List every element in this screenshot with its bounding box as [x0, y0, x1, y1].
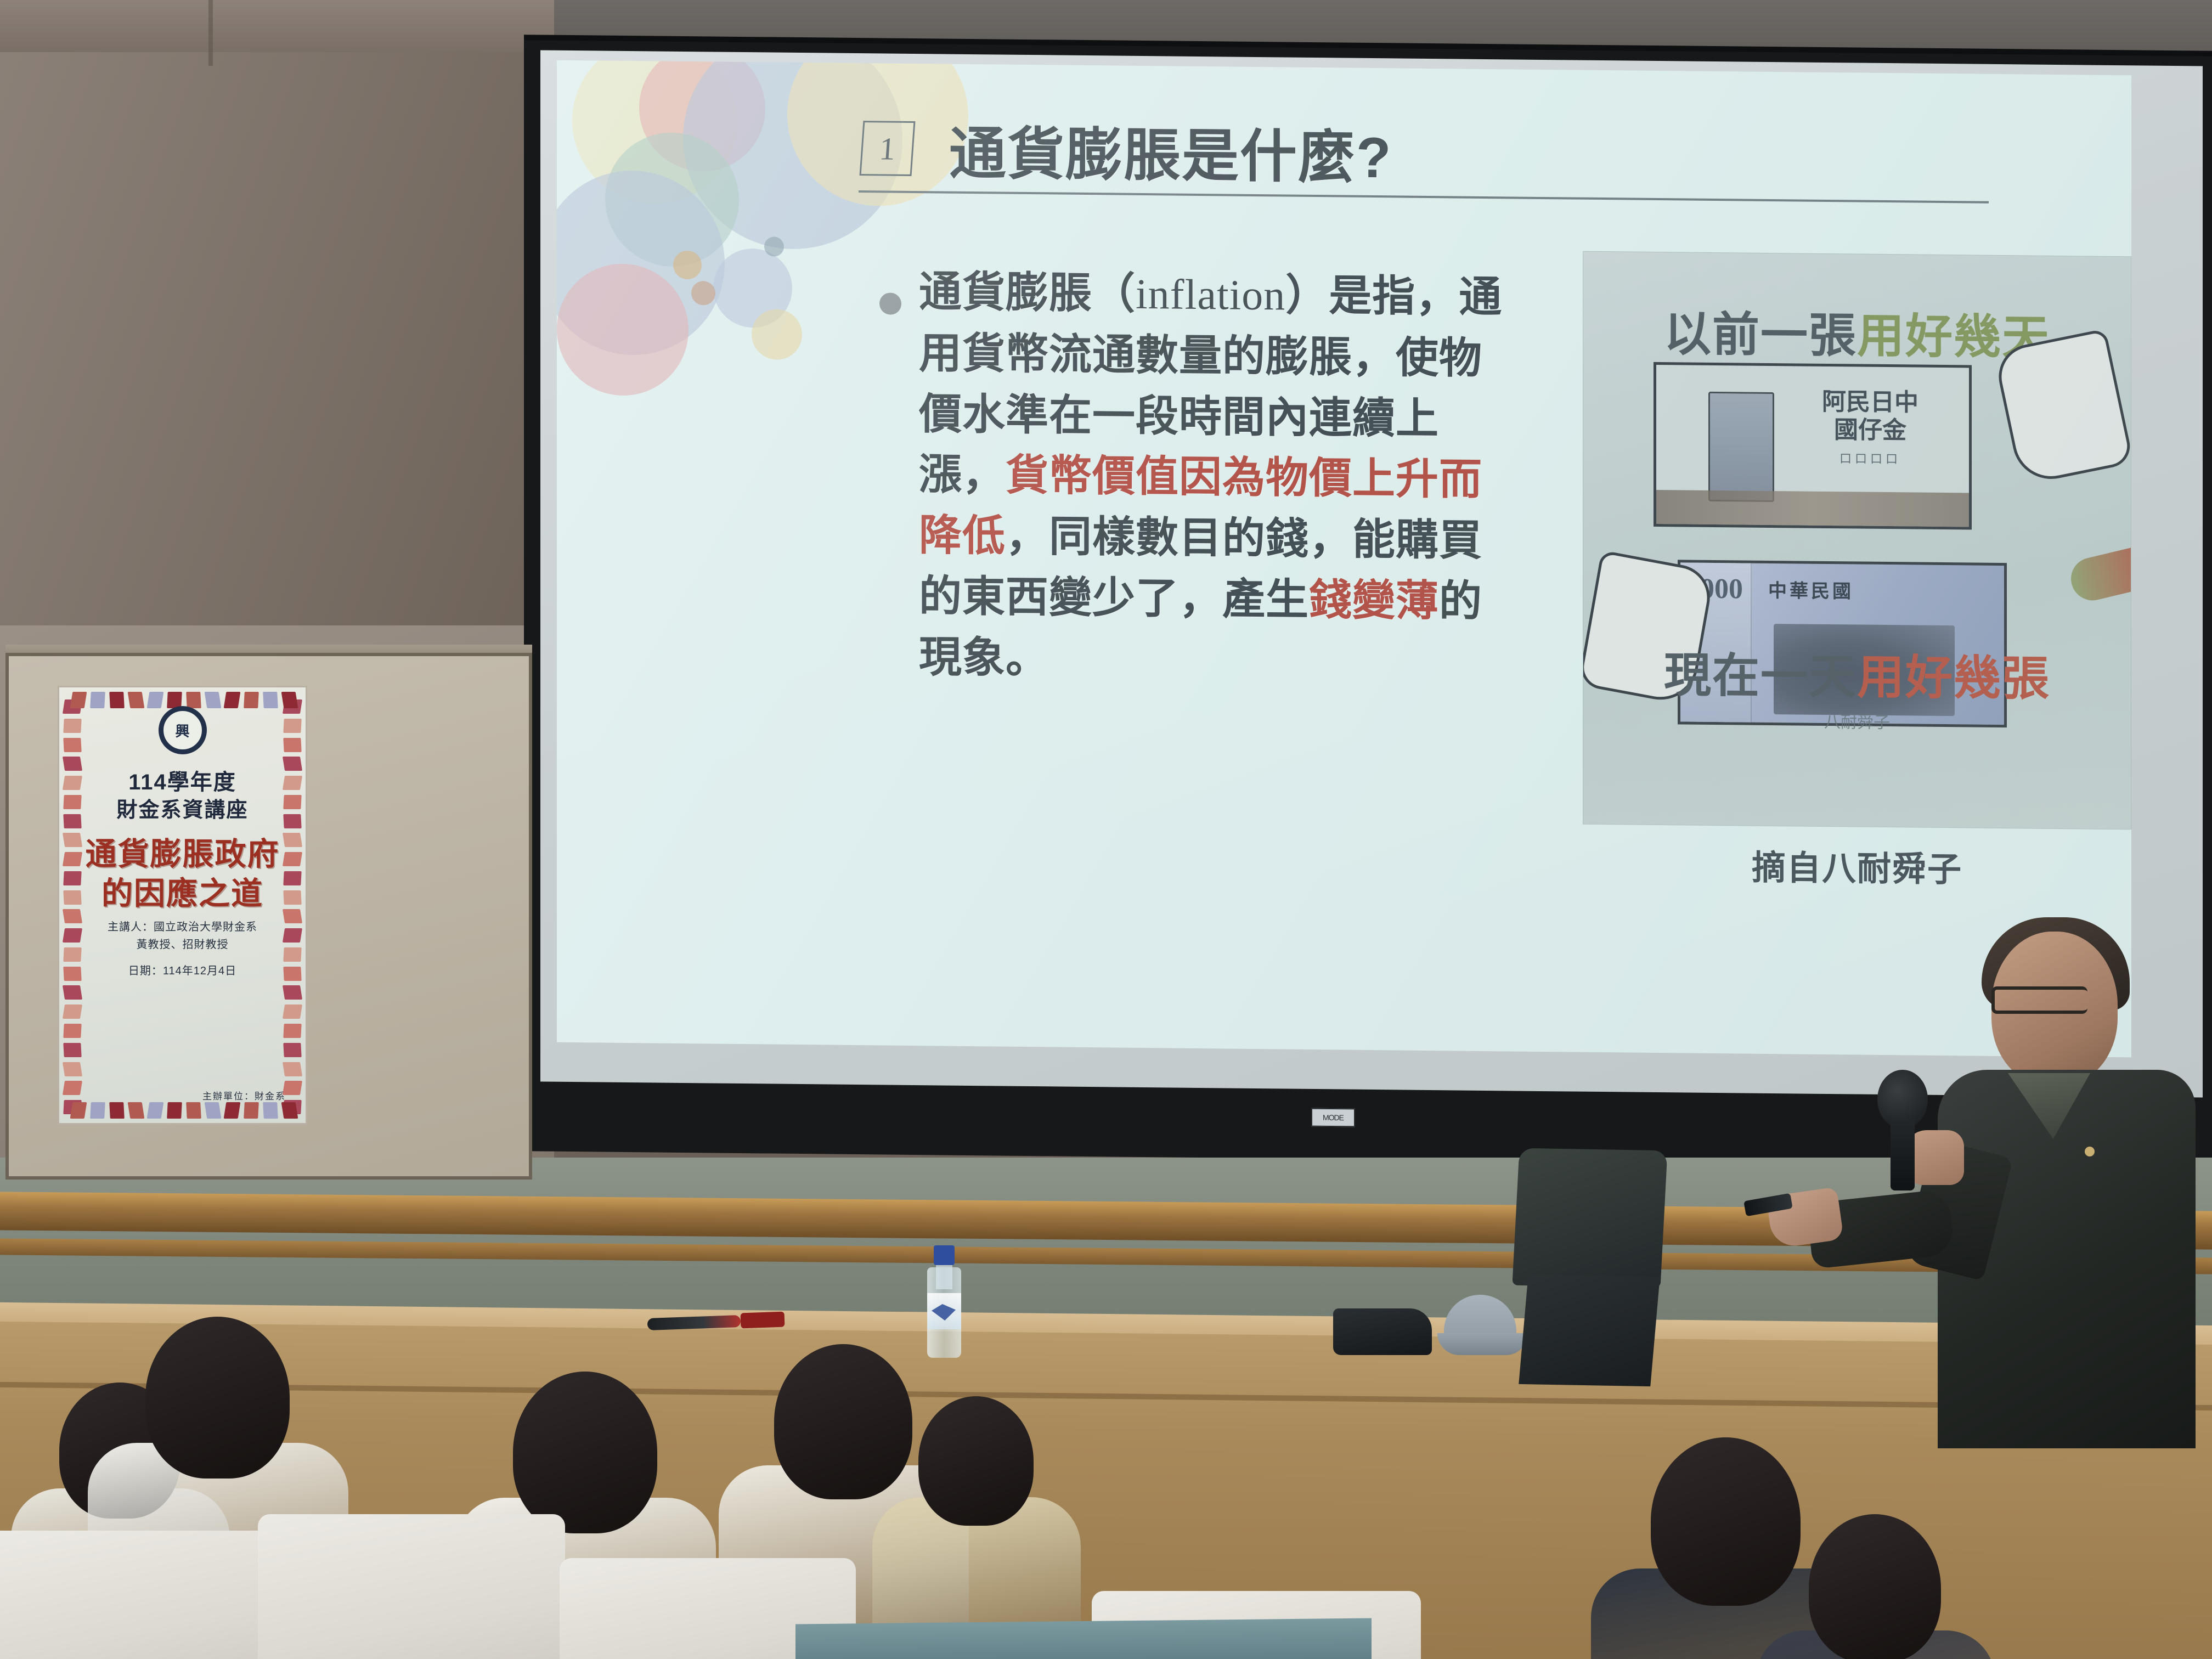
poster-border-cell — [281, 1102, 298, 1119]
poster-border-cell — [283, 1062, 302, 1076]
audience-head — [1809, 1514, 1942, 1659]
illus-top-plain: 以前一張 — [1664, 308, 1857, 362]
old-banknote-text: 阿民日中 國仔金 — [1793, 388, 1947, 445]
poster-border-cell — [283, 719, 301, 733]
small-bag — [1333, 1308, 1432, 1355]
poster-border-cell — [167, 1102, 182, 1119]
illustration-signature: 八耐舜子 — [1583, 706, 2131, 736]
poster-border-cell — [63, 1005, 82, 1019]
poster-border-cell — [70, 692, 87, 708]
poster-academic-year: 114學年度 — [59, 764, 306, 796]
poster-border-cell — [109, 692, 125, 708]
poster-series-name: 財金系資講座 — [59, 793, 306, 823]
presentation-slide: 1 通貨膨脹是什麼? 通貨膨脹（inflation）是指，通用貨幣流通數量的膨脹… — [557, 60, 2131, 1058]
poster-border-cell — [283, 985, 302, 1000]
old-note-header: 阿民日中 — [1793, 388, 1947, 417]
poster-border-cell — [186, 1102, 201, 1119]
poster-border-cell — [70, 1102, 87, 1119]
poster-border-cell — [263, 1102, 278, 1119]
poster-title-line2: 的因應之道 — [59, 868, 306, 913]
audience-member — [872, 1396, 1081, 1659]
poster-border-cell — [90, 1102, 105, 1119]
lapel-pin-icon — [2085, 1147, 2095, 1156]
screen-brand-label: MODE — [1311, 1108, 1355, 1127]
chair-backrest — [1512, 1148, 1667, 1288]
body-line3-highlight: 貨 — [1006, 451, 1049, 500]
poster-border-cell — [283, 1024, 301, 1038]
poster-title-line1: 通貨膨脹政府 — [59, 829, 306, 874]
illustration-bottom-caption: 現在一天用好幾張 — [1583, 636, 2131, 710]
bullet-dot-icon — [879, 292, 901, 314]
audience-head — [513, 1372, 657, 1533]
seat-back — [258, 1514, 565, 1659]
new-note-country: 中華民國 — [1768, 575, 1933, 604]
poster-border-cell — [283, 738, 301, 752]
old-note-serial: 口口口口 — [1793, 448, 1947, 467]
poster-border-cell — [244, 692, 259, 708]
illus-bot-plain: 現在一天 — [1664, 649, 1857, 703]
poster-border-cell — [90, 692, 105, 708]
body-line1-a: 通貨膨脹（ — [919, 267, 1136, 318]
bottle-cap — [934, 1245, 955, 1265]
left-wall-upper — [0, 0, 554, 647]
poster-border-cell — [109, 1102, 125, 1119]
audience-member — [1756, 1514, 1995, 1659]
banknote-bottom-band — [1656, 490, 1969, 527]
bubble-8 — [673, 251, 702, 279]
body-line4-plain: ，同 — [1006, 512, 1092, 561]
microphone-body — [1891, 1119, 1915, 1190]
poster-border-cell — [63, 985, 82, 1000]
poster-border-cell — [224, 692, 241, 708]
poster-border-bottom — [71, 1102, 297, 1119]
ceiling-strip — [0, 0, 554, 52]
bubble-9 — [691, 281, 715, 305]
body-line1-en: inflation — [1136, 270, 1285, 319]
seat-back — [0, 1531, 285, 1659]
chair-column — [1519, 1274, 1660, 1386]
poster-border-cell — [281, 692, 298, 708]
title-underline — [859, 190, 1989, 204]
bubble-11 — [752, 309, 802, 360]
poster-border-cell — [147, 692, 164, 708]
bottle-neck — [936, 1262, 952, 1289]
bubble-10 — [764, 236, 784, 256]
poster-border-cell — [128, 1102, 145, 1119]
event-poster: 興 114學年度 財金系資講座 通貨膨脹政府 的因應之道 主講人：國立政治大學財… — [58, 686, 307, 1125]
water-bottle — [927, 1245, 961, 1358]
old-banknote-graphic: 阿民日中 國仔金 口口口口 — [1654, 362, 1972, 530]
poster-speaker-line1: 主講人：國立政治大學財金系 — [59, 918, 306, 934]
poster-border-cell — [244, 1102, 259, 1119]
front-desk — [795, 1618, 1372, 1659]
poster-border-cell — [224, 1102, 241, 1119]
poster-border-cell — [63, 1043, 81, 1057]
poster-speaker-line2: 黃教授、招財教授 — [59, 935, 306, 951]
speaker-person — [1909, 889, 2212, 1437]
poster-border-cell — [63, 1024, 81, 1038]
poster-border-cell — [128, 692, 145, 708]
poster-border-cell — [63, 1062, 82, 1076]
microphone-icon — [1877, 1070, 1928, 1185]
body-line6-a: 了，產生 — [1136, 574, 1309, 624]
old-note-value: 國仔金 — [1793, 416, 1947, 445]
slide-body-text: 通貨膨脹（inflation）是指，通用貨幣流通數量的膨脹，使物價水準在一段時間… — [919, 261, 1514, 693]
slide-number-box: 1 — [860, 121, 916, 176]
body-line1-b: ）是指，通 — [1285, 270, 1502, 321]
poster-border-cell — [283, 1005, 302, 1019]
poster-border-cell — [63, 1081, 82, 1095]
marker-pen-second — [741, 1312, 785, 1329]
poster-organizer: 主辦單位：財金系 — [202, 1088, 286, 1102]
body-line6-highlight: 錢變薄 — [1309, 575, 1439, 625]
lecture-hall-scene: 1 通貨膨脹是什麼? 通貨膨脹（inflation）是指，通用貨幣流通數量的膨脹… — [0, 0, 2212, 1659]
illustration-source-caption: 摘自八耐舜子 — [1583, 838, 2131, 893]
office-chair — [1506, 1149, 1676, 1380]
poster-border-cell — [147, 1102, 164, 1119]
poster-border-cell — [63, 738, 81, 752]
illus-bot-highlight: 用好幾張 — [1857, 651, 2050, 705]
poster-border-cell — [205, 1102, 222, 1119]
audience-head — [918, 1396, 1034, 1526]
banknote-portrait — [1708, 392, 1774, 502]
university-logo-icon: 興 — [159, 706, 207, 754]
poster-border-cell — [63, 719, 81, 733]
eyeglasses-icon — [1991, 986, 2087, 1014]
poster-border-cell — [283, 1043, 301, 1057]
audience-head — [145, 1317, 290, 1479]
ceiling-seam — [208, 0, 213, 66]
slide-illustration: 以前一張用好幾天 阿民日中 國仔金 口口口口 1000 中華民國 — [1583, 251, 2131, 830]
poster-date: 日期：114年12月4日 — [59, 962, 306, 978]
pointing-finger-icon — [2067, 544, 2131, 605]
poster-border-cell — [263, 692, 278, 708]
slide-title: 通貨膨脹是什麼? — [949, 107, 1392, 194]
bubble-6 — [557, 263, 689, 396]
poster-border-cell — [205, 692, 222, 708]
poster-border-cell — [186, 692, 201, 708]
